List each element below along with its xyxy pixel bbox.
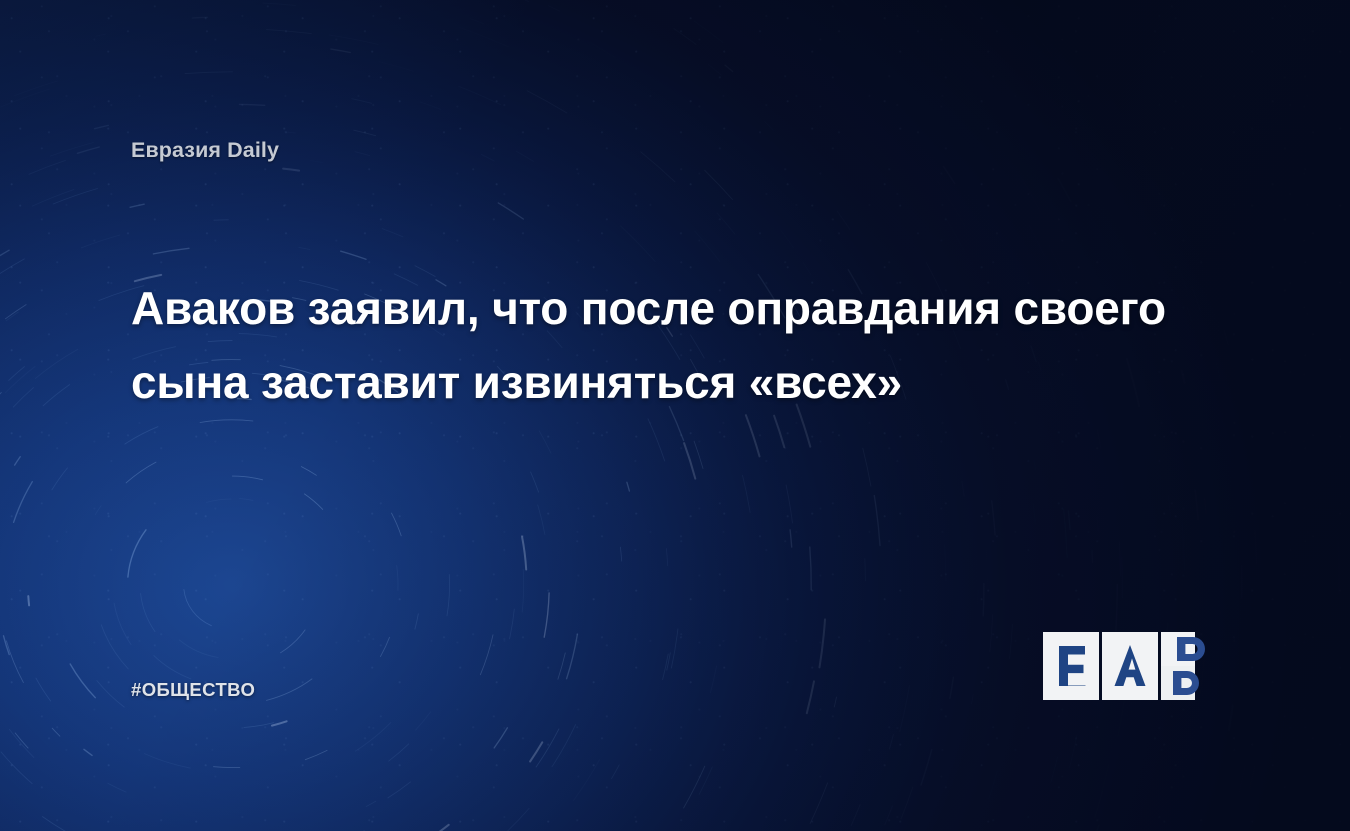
page-title: Аваков заявил, что после оправдания свое… — [131, 271, 1171, 419]
news-card: Евразия Daily Аваков заявил, что после о… — [0, 0, 1350, 831]
card-content: Евразия Daily Аваков заявил, что после о… — [0, 0, 1350, 831]
logo-tile-e — [1043, 632, 1099, 700]
logo-tile-d — [1161, 632, 1217, 700]
eadaily-logo[interactable] — [1043, 632, 1221, 700]
logo-tile-a — [1102, 632, 1158, 700]
brand-label: Евразия Daily — [131, 138, 279, 163]
category-tag[interactable]: #ОБЩЕСТВО — [131, 679, 255, 701]
